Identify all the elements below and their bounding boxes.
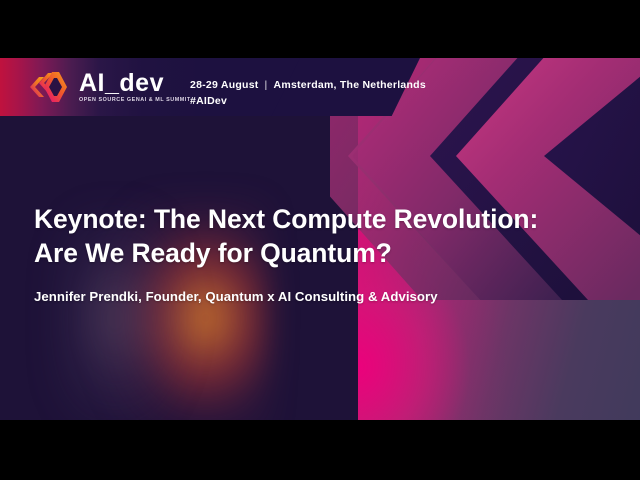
event-dates: 28-29 August — [190, 79, 259, 91]
event-date-location: 28-29 August|Amsterdam, The Netherlands — [190, 79, 426, 91]
slide-frame: AI_dev Open Source GenAI & ML Summit 28-… — [0, 58, 640, 420]
talk-title-line-1: Keynote: The Next Compute Revolution: — [34, 204, 538, 234]
aidev-chevron-logo-icon — [28, 70, 72, 104]
talk-title: Keynote: The Next Compute Revolution: Ar… — [34, 203, 594, 271]
logo-wordmark: AI_dev Open Source GenAI & ML Summit — [79, 71, 191, 103]
event-hashtag: #AIDev — [190, 95, 426, 107]
aidev-logo: AI_dev Open Source GenAI & ML Summit — [28, 70, 191, 104]
talk-block: Keynote: The Next Compute Revolution: Ar… — [34, 203, 594, 304]
talk-title-line-2: Are We Ready for Quantum? — [34, 238, 392, 268]
event-separator: | — [259, 79, 274, 91]
event-details: 28-29 August|Amsterdam, The Netherlands … — [190, 79, 426, 107]
event-location: Amsterdam, The Netherlands — [274, 79, 426, 91]
video-slide: AI_dev Open Source GenAI & ML Summit 28-… — [0, 0, 640, 480]
logo-text: AI_dev — [79, 71, 191, 96]
letterbox-top — [0, 0, 640, 58]
logo-tagline: Open Source GenAI & ML Summit — [79, 98, 191, 103]
letterbox-bottom — [0, 420, 640, 480]
talk-speaker: Jennifer Prendki, Founder, Quantum x AI … — [34, 289, 594, 304]
